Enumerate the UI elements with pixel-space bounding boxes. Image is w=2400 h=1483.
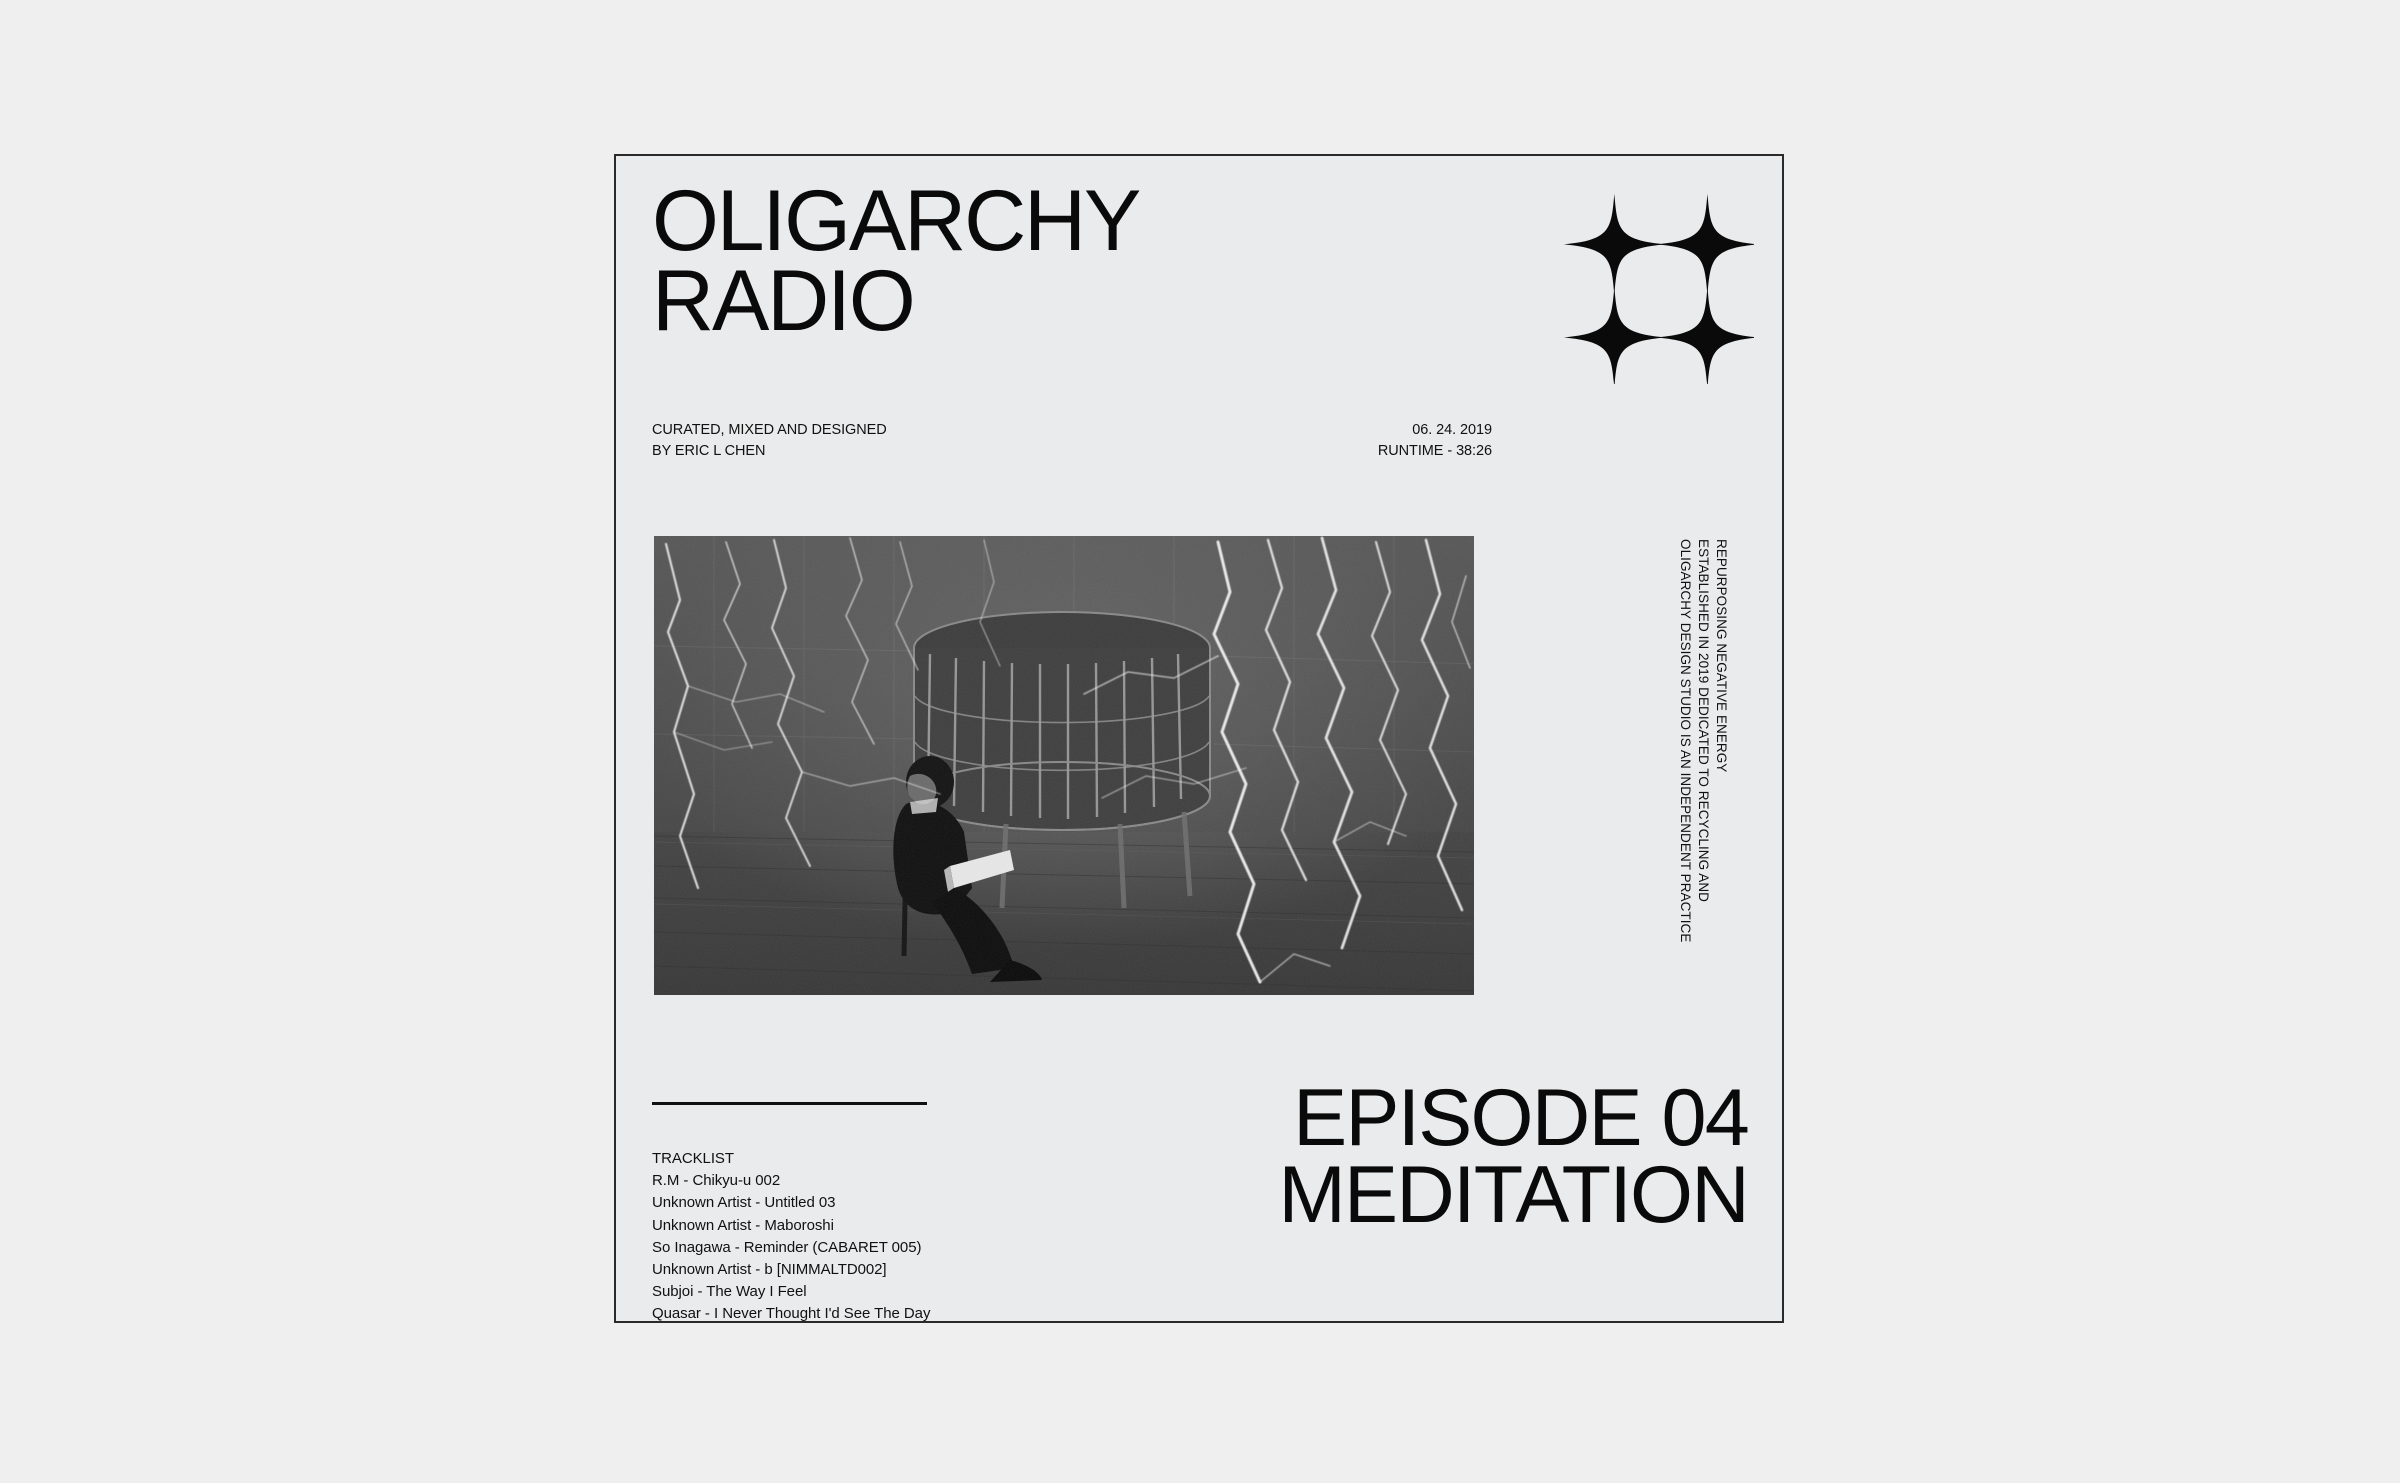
page-title: OLIGARCHY RADIO <box>652 182 1139 342</box>
list-item: Unknown Artist - Untitled 03 <box>652 1192 930 1214</box>
sparkle-icon-bottom-left <box>1564 287 1665 384</box>
episode-title: EPISODE 04 MEDITATION <box>1278 1080 1748 1234</box>
tracklist: TRACKLIST R.M - Chikyu-u 002 Unknown Art… <box>652 1148 930 1326</box>
list-item: Subjoi - The Way I Feel <box>652 1281 930 1303</box>
list-item: Quasar - I Never Thought I'd See The Day <box>652 1303 930 1325</box>
poster-canvas: OLIGARCHY RADIO CURATED, MIXED AND DESIG… <box>0 0 2400 1483</box>
list-item: So Inagawa - Reminder (CABARET 005) <box>652 1237 930 1259</box>
list-item: R.M - Chikyu-u 002 <box>652 1170 930 1192</box>
cover-photograph <box>654 536 1474 995</box>
list-item: Unknown Artist - Maboroshi <box>652 1215 930 1237</box>
credits-left: CURATED, MIXED AND DESIGNED BY ERIC L CH… <box>652 420 887 461</box>
credits-right: 06. 24. 2019 RUNTIME - 38:26 <box>1378 420 1492 461</box>
studio-blurb-line-2: ESTABLISHED IN 2019 DEDICATED TO RECYCLI… <box>1696 539 1711 902</box>
poster-card: OLIGARCHY RADIO CURATED, MIXED AND DESIG… <box>614 154 1784 1323</box>
studio-blurb-line-3: REPURPOSING NEGATIVE ENERGY <box>1714 539 1729 772</box>
studio-blurb-line-1: OLIGARCHY DESIGN STUDIO IS AN INDEPENDEN… <box>1678 539 1693 942</box>
tracklist-divider <box>652 1102 927 1105</box>
sparkle-icon-top-left <box>1564 194 1665 295</box>
sparkle-icon-bottom-right <box>1657 287 1754 384</box>
studio-blurb-vertical: OLIGARCHY DESIGN STUDIO IS AN INDEPENDEN… <box>1679 539 1799 1019</box>
list-item: Unknown Artist - b [NIMMALTD002] <box>652 1259 930 1281</box>
tracklist-heading: TRACKLIST <box>652 1148 930 1170</box>
sparkle-icon-top-right <box>1657 194 1754 295</box>
four-sparkle-logo <box>1560 190 1754 384</box>
credits-row: CURATED, MIXED AND DESIGNED BY ERIC L CH… <box>652 420 1492 461</box>
